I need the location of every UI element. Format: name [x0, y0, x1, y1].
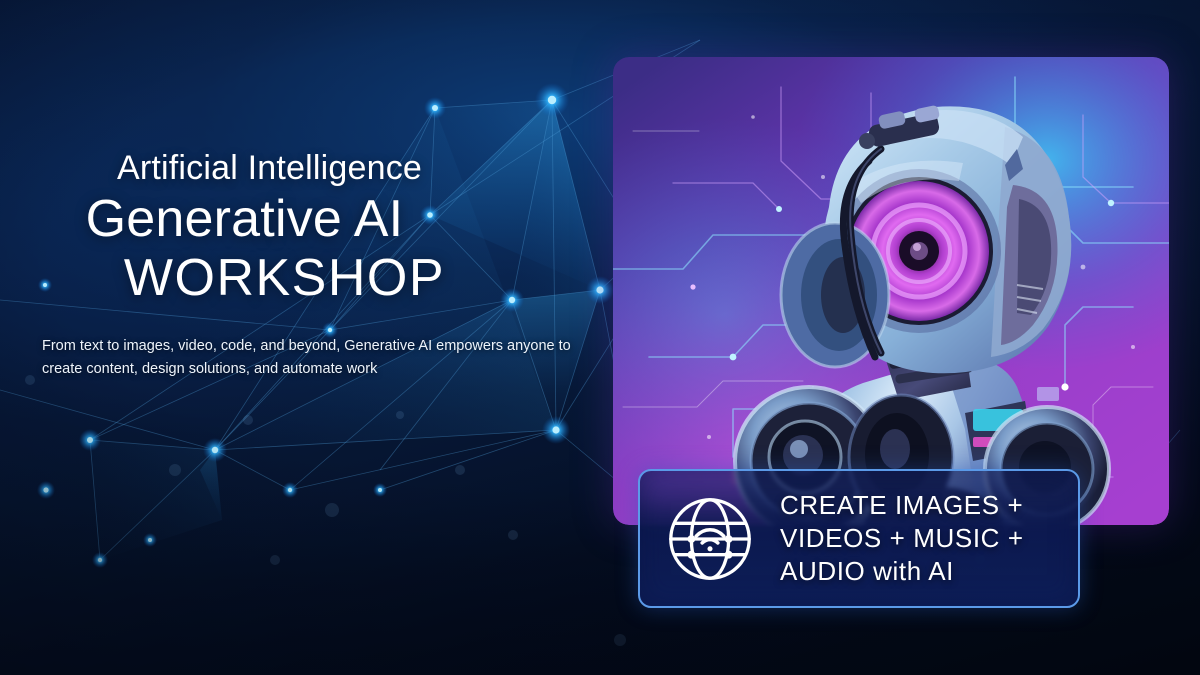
- globe-wifi-icon: [656, 485, 764, 593]
- title-line-1: Generative AI: [42, 190, 587, 249]
- banner-text-block: CREATE IMAGES + VIDEOS + MUSIC + AUDIO w…: [764, 489, 1068, 589]
- banner-line-2: VIDEOS + MUSIC +: [780, 522, 1068, 555]
- robot-artwork: [613, 57, 1169, 525]
- title-line-2: WORKSHOP: [42, 249, 587, 308]
- banner-line-3: AUDIO with AI: [780, 555, 1068, 588]
- headline-block: Artificial Intelligence Generative AI WO…: [42, 148, 587, 382]
- banner-line-1: CREATE IMAGES +: [780, 489, 1068, 522]
- feature-banner[interactable]: CREATE IMAGES + VIDEOS + MUSIC + AUDIO w…: [638, 469, 1080, 608]
- eyebrow-text: Artificial Intelligence: [42, 148, 587, 188]
- poster-canvas: Artificial Intelligence Generative AI WO…: [0, 0, 1200, 675]
- description-text: From text to images, video, code, and be…: [42, 335, 572, 382]
